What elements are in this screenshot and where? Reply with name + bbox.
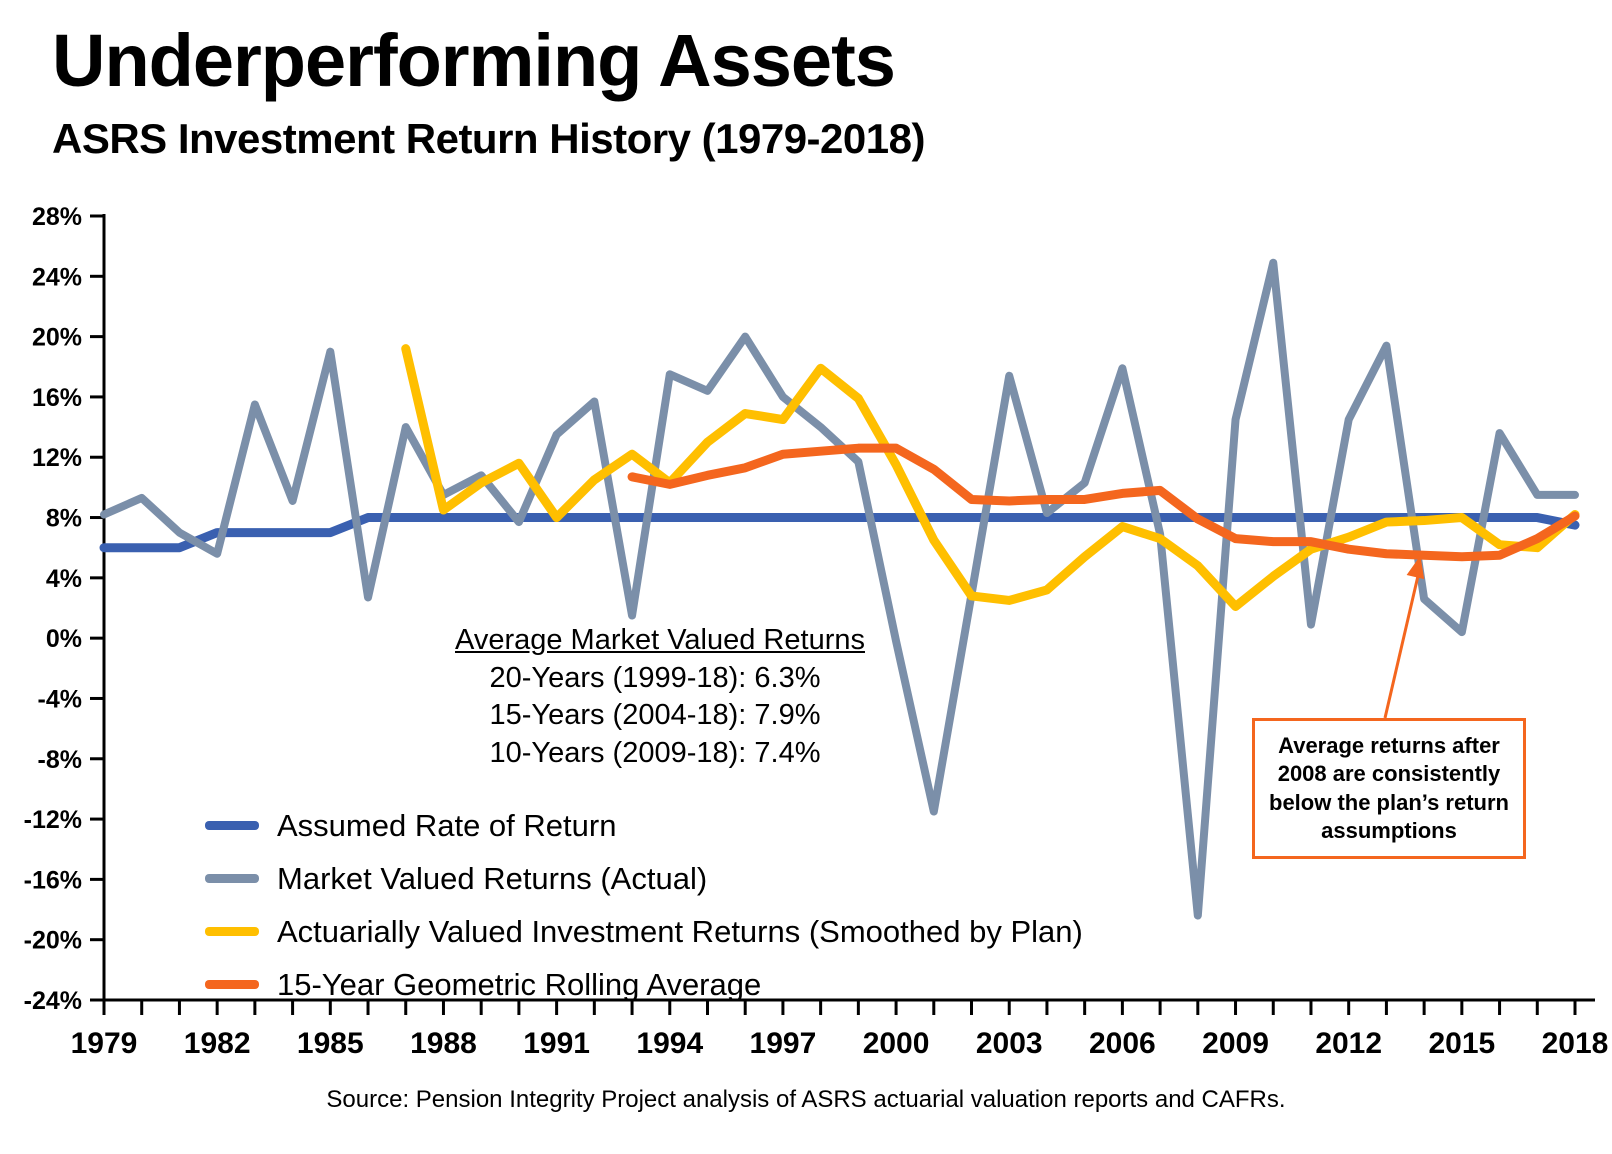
legend-item-actuarial-returns: Actuarially Valued Investment Returns (S…	[205, 911, 1083, 952]
legend-label-actuarial-returns: Actuarially Valued Investment Returns (S…	[277, 916, 1083, 947]
x-axis-tick-label: 1994	[636, 1027, 703, 1060]
chart-page: Underperforming Assets ASRS Investment R…	[0, 0, 1612, 1154]
y-axis-tick-label: 28%	[32, 203, 82, 231]
source-note: Source: Pension Integrity Project analys…	[0, 1086, 1612, 1114]
legend-item-rolling-average: 15-Year Geometric Rolling Average	[205, 964, 1083, 1005]
average-15-year: 15-Years (2004-18): 7.9%	[455, 697, 855, 735]
chart-legend: Assumed Rate of Return Market Valued Ret…	[205, 805, 1083, 1017]
x-axis-tick-label: 1985	[297, 1027, 364, 1060]
legend-label-market-returns: Market Valued Returns (Actual)	[277, 863, 707, 894]
legend-swatch-rolling-average	[205, 980, 259, 989]
legend-swatch-assumed-rate	[205, 821, 259, 830]
average-returns-heading: Average Market Valued Returns	[455, 622, 855, 660]
y-axis-tick-label: -4%	[38, 685, 82, 713]
x-axis-tick-label: 1991	[523, 1027, 590, 1060]
y-axis-tick-label: -20%	[24, 927, 82, 955]
legend-label-rolling-average: 15-Year Geometric Rolling Average	[277, 969, 761, 1000]
y-axis-tick-label: 24%	[32, 263, 82, 291]
y-axis-tick-label: 20%	[32, 324, 82, 352]
x-axis-tick-label: 1979	[71, 1027, 138, 1060]
x-axis-tick-label: 2003	[976, 1027, 1043, 1060]
legend-item-assumed-rate: Assumed Rate of Return	[205, 805, 1083, 846]
average-20-year: 20-Years (1999-18): 6.3%	[455, 660, 855, 698]
x-axis-tick-label: 1997	[750, 1027, 817, 1060]
legend-item-market-returns: Market Valued Returns (Actual)	[205, 858, 1083, 899]
post-2008-callout-text: Average returns after 2008 are consisten…	[1255, 732, 1523, 845]
post-2008-callout: Average returns after 2008 are consisten…	[1252, 718, 1526, 859]
average-10-year: 10-Years (2009-18): 7.4%	[455, 735, 855, 773]
legend-swatch-actuarial-returns	[205, 927, 259, 936]
average-returns-note: Average Market Valued Returns 20-Years (…	[455, 622, 855, 773]
legend-swatch-market-returns	[205, 874, 259, 883]
y-axis-tick-label: -16%	[24, 866, 82, 894]
x-axis-tick-label: 2000	[863, 1027, 930, 1060]
y-axis-tick-label: 0%	[46, 625, 82, 653]
x-axis-tick-label: 2006	[1089, 1027, 1156, 1060]
y-axis-tick-label: 12%	[32, 444, 82, 472]
x-axis-tick-label: 1988	[410, 1027, 477, 1060]
x-axis-tick-label: 2015	[1428, 1027, 1495, 1060]
y-axis-tick-label: -8%	[38, 746, 82, 774]
y-axis-tick-label: 4%	[46, 565, 82, 593]
callout-arrow	[1385, 556, 1424, 718]
x-axis-tick-label: 2009	[1202, 1027, 1269, 1060]
x-axis-tick-label: 1982	[184, 1027, 251, 1060]
y-axis-tick-label: -24%	[24, 987, 82, 1015]
x-axis-tick-label: 2012	[1315, 1027, 1382, 1060]
y-axis-tick-label: -12%	[24, 806, 82, 834]
y-axis-tick-label: 16%	[32, 384, 82, 412]
y-axis-tick-label: 8%	[46, 505, 82, 533]
x-axis-tick-label: 2018	[1542, 1027, 1609, 1060]
legend-label-assumed-rate: Assumed Rate of Return	[277, 810, 616, 841]
